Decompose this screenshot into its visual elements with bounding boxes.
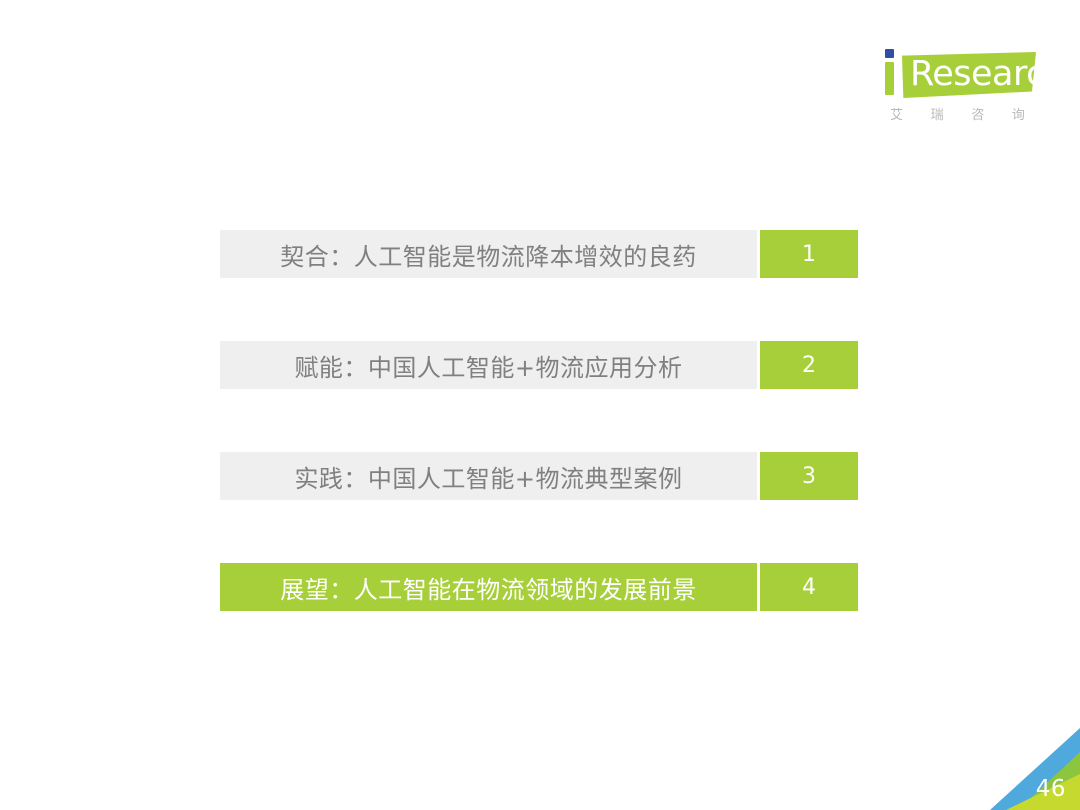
agenda-row-label: 契合：人工智能是物流降本增效的良药 (220, 230, 757, 278)
agenda-row-active[interactable]: 展望：人工智能在物流领域的发展前景 4 (220, 563, 858, 611)
agenda-list: 契合：人工智能是物流降本增效的良药 1 赋能：中国人工智能+物流应用分析 2 实… (220, 230, 858, 611)
agenda-row-number: 1 (760, 230, 858, 278)
agenda-row-number: 3 (760, 452, 858, 500)
agenda-row-number: 2 (760, 341, 858, 389)
slide-canvas: Research 艾 瑞 咨 询 契合：人工智能是物流降本增效的良药 1 赋能：… (0, 0, 1080, 810)
page-number: 46 (1036, 776, 1066, 802)
agenda-row[interactable]: 契合：人工智能是物流降本增效的良药 1 (220, 230, 858, 278)
agenda-row[interactable]: 赋能：中国人工智能+物流应用分析 2 (220, 341, 858, 389)
iresearch-logo: Research 艾 瑞 咨 询 (884, 48, 1036, 126)
logo-i-stem-icon (885, 62, 894, 95)
logo-i-dot-icon (885, 49, 894, 58)
agenda-row[interactable]: 实践：中国人工智能+物流典型案例 3 (220, 452, 858, 500)
corner-decoration: 46 (984, 700, 1080, 810)
logo-subtitle: 艾 瑞 咨 询 (890, 104, 1036, 123)
agenda-row-label: 展望：人工智能在物流领域的发展前景 (220, 563, 757, 611)
logo-mark: Research (884, 48, 1036, 100)
agenda-row-label: 赋能：中国人工智能+物流应用分析 (220, 341, 757, 389)
agenda-row-number: 4 (760, 563, 858, 611)
logo-wordmark: Research (910, 53, 1067, 95)
agenda-row-label: 实践：中国人工智能+物流典型案例 (220, 452, 757, 500)
